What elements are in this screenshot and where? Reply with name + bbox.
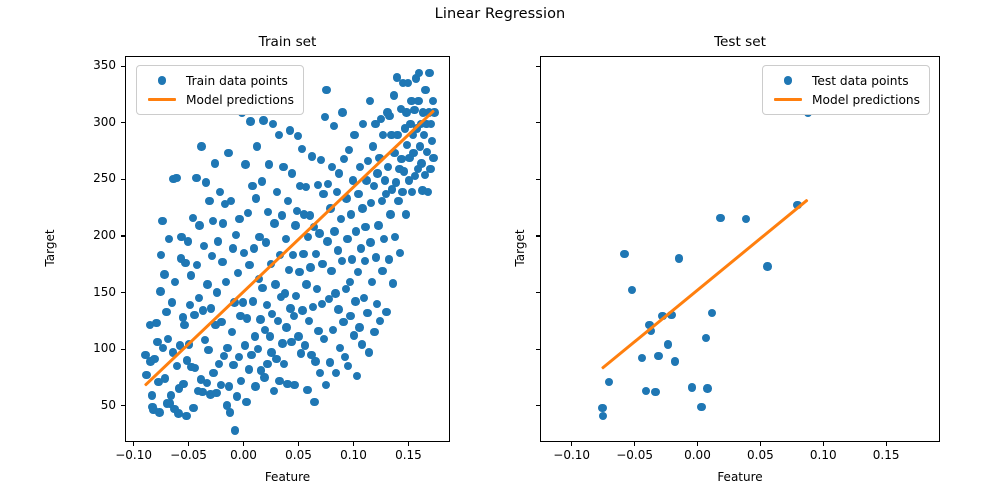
data-point — [354, 190, 362, 198]
x-tick-mark — [243, 442, 244, 446]
x-tick-label: 0.15 — [378, 448, 438, 462]
data-point — [217, 318, 225, 326]
legend-label: Test data points — [806, 74, 909, 88]
data-point — [314, 327, 322, 335]
data-point — [225, 382, 233, 390]
data-point — [237, 377, 245, 385]
data-point — [330, 227, 338, 235]
data-point — [310, 398, 318, 406]
data-point — [424, 188, 432, 196]
data-point — [290, 381, 298, 389]
data-point — [415, 69, 423, 77]
x-tick-mark — [133, 442, 134, 446]
data-point — [340, 155, 348, 163]
legend-label: Train data points — [180, 74, 288, 88]
data-point — [352, 227, 360, 235]
data-point — [213, 288, 221, 296]
data-point — [429, 154, 437, 162]
data-point — [664, 340, 672, 348]
y-tick-mark — [536, 349, 540, 350]
data-point — [396, 249, 404, 257]
legend-label: Model predictions — [180, 93, 294, 107]
data-point — [675, 254, 683, 262]
data-point — [295, 268, 303, 276]
data-point — [402, 210, 410, 218]
y-tick-mark — [121, 292, 125, 293]
x-tick-label: 0.05 — [268, 448, 328, 462]
data-point — [354, 268, 362, 276]
data-point — [302, 280, 310, 288]
y-tick-label: 150 — [72, 285, 116, 299]
data-point — [358, 204, 366, 212]
data-point — [171, 278, 179, 286]
data-point — [204, 346, 212, 354]
data-point — [369, 142, 377, 150]
data-point — [303, 386, 311, 394]
data-point — [334, 246, 342, 254]
data-point — [299, 250, 307, 258]
data-point — [179, 380, 187, 388]
data-point — [294, 132, 302, 140]
data-point — [598, 404, 606, 412]
data-point — [346, 312, 354, 320]
matplotlib-figure: Linear Regression Train set Target Featu… — [0, 0, 1000, 500]
data-point — [319, 190, 327, 198]
data-point — [192, 174, 200, 182]
data-point — [215, 360, 223, 368]
data-point — [374, 221, 382, 229]
x-tick-label: −0.05 — [159, 448, 219, 462]
data-point — [353, 372, 361, 380]
data-point — [351, 297, 359, 305]
data-point — [189, 404, 197, 412]
data-point — [409, 149, 417, 157]
data-point — [326, 358, 334, 366]
plot-area-train: Train data points Model predictions — [125, 56, 450, 442]
data-point — [290, 312, 298, 320]
data-point — [333, 188, 341, 196]
data-point — [393, 131, 401, 139]
data-point — [381, 176, 389, 184]
data-point — [427, 120, 435, 128]
data-point — [155, 408, 163, 416]
data-point — [343, 235, 351, 243]
data-point — [334, 305, 342, 313]
data-point — [218, 258, 226, 266]
data-point — [254, 345, 262, 353]
x-tick-label: 0.15 — [856, 448, 916, 462]
data-point — [241, 160, 249, 168]
data-point — [703, 384, 711, 392]
data-point — [265, 160, 273, 168]
data-point — [302, 183, 310, 191]
data-point — [322, 86, 330, 94]
data-point — [403, 141, 411, 149]
data-point — [184, 237, 192, 245]
data-point — [385, 255, 393, 263]
x-tick-mark — [886, 442, 887, 446]
x-axis-label-test: Feature — [540, 470, 940, 484]
data-point — [258, 177, 266, 185]
data-point — [421, 86, 429, 94]
data-point — [317, 156, 325, 164]
data-point — [361, 257, 369, 265]
data-point — [329, 326, 337, 334]
data-point — [298, 145, 306, 153]
data-point — [216, 188, 224, 196]
data-point — [226, 408, 234, 416]
data-point — [357, 244, 365, 252]
data-point — [315, 229, 323, 237]
data-point — [246, 117, 254, 125]
data-point — [160, 270, 168, 278]
y-tick-label: 300 — [72, 115, 116, 129]
data-point — [186, 301, 194, 309]
x-tick-label: −0.10 — [104, 448, 164, 462]
data-point — [363, 309, 371, 317]
data-point — [173, 362, 181, 370]
data-point — [253, 142, 261, 150]
data-point — [389, 279, 397, 287]
data-point — [324, 180, 332, 188]
data-point — [289, 251, 297, 259]
data-point — [322, 381, 330, 389]
data-point — [332, 369, 340, 377]
x-tick-label: −0.10 — [542, 448, 602, 462]
y-tick-mark — [121, 405, 125, 406]
data-point — [417, 159, 425, 167]
data-point — [312, 250, 320, 258]
data-point — [688, 383, 696, 391]
data-point — [165, 235, 173, 243]
x-tick-label: 0.00 — [667, 448, 727, 462]
legend-train[interactable]: Train data points Model predictions — [136, 65, 304, 115]
data-point — [278, 211, 286, 219]
data-point — [244, 209, 252, 217]
data-point — [331, 289, 339, 297]
data-point — [249, 297, 257, 305]
data-point — [152, 319, 160, 327]
data-point — [182, 412, 190, 420]
data-point — [190, 311, 198, 319]
data-point — [361, 223, 369, 231]
data-point — [671, 357, 679, 365]
data-point — [651, 388, 659, 396]
data-point — [366, 238, 374, 246]
data-point — [273, 188, 281, 196]
data-point — [164, 335, 172, 343]
data-point — [620, 250, 628, 258]
x-tick-mark — [760, 442, 761, 446]
data-point — [605, 378, 613, 386]
data-point — [235, 215, 243, 223]
data-point — [365, 348, 373, 356]
data-point — [313, 285, 321, 293]
data-point — [240, 249, 248, 257]
legend-item-train-points: Train data points — [144, 71, 294, 90]
data-point — [214, 237, 222, 245]
data-point — [274, 317, 282, 325]
data-point — [250, 244, 258, 252]
data-point — [297, 349, 305, 357]
data-point — [306, 263, 314, 271]
data-point — [386, 210, 394, 218]
figure-suptitle: Linear Regression — [0, 6, 1000, 22]
x-axis-label-train: Feature — [125, 470, 450, 484]
data-point — [241, 341, 249, 349]
data-point — [404, 79, 412, 87]
data-point — [212, 389, 220, 397]
x-tick-label: 0.10 — [793, 448, 853, 462]
x-tick-mark — [571, 442, 572, 446]
x-tick-label: 0.00 — [214, 448, 274, 462]
data-point — [195, 221, 203, 229]
y-tick-mark — [536, 179, 540, 180]
data-point — [235, 353, 243, 361]
plot-area-test: Test data points Model predictions — [540, 56, 940, 442]
data-point — [263, 360, 271, 368]
data-point — [197, 142, 205, 150]
data-point — [209, 369, 217, 377]
data-point — [229, 361, 237, 369]
data-point — [239, 298, 247, 306]
data-point — [377, 115, 385, 123]
data-point — [697, 403, 705, 411]
y-axis-label-train: Target — [43, 188, 57, 308]
data-point — [708, 309, 716, 317]
data-point — [292, 292, 300, 300]
data-point — [224, 149, 232, 157]
data-point — [294, 332, 302, 340]
data-point — [360, 294, 368, 302]
data-point — [654, 352, 662, 360]
x-tick-mark — [697, 442, 698, 446]
data-point — [167, 391, 175, 399]
x-tick-mark — [353, 442, 354, 446]
y-tick-label: 100 — [72, 341, 116, 355]
data-point — [264, 208, 272, 216]
data-point — [376, 317, 384, 325]
data-point — [305, 317, 313, 325]
data-point — [281, 289, 289, 297]
data-point — [338, 108, 346, 116]
data-point — [286, 126, 294, 134]
y-tick-mark — [536, 66, 540, 67]
data-point — [231, 426, 239, 434]
y-tick-mark — [121, 66, 125, 67]
line-segment-icon — [770, 98, 806, 101]
data-point — [195, 294, 203, 302]
data-point — [350, 331, 358, 339]
data-point — [207, 304, 215, 312]
data-point — [368, 278, 376, 286]
data-point — [391, 233, 399, 241]
data-point — [223, 344, 231, 352]
data-point — [148, 391, 156, 399]
model-prediction-line — [601, 198, 809, 369]
data-point — [288, 169, 296, 177]
dot-marker-icon — [770, 76, 806, 84]
data-point — [742, 215, 750, 223]
data-point — [150, 355, 158, 363]
data-point — [338, 257, 346, 265]
data-point — [208, 252, 216, 260]
y-tick-mark — [536, 405, 540, 406]
data-point — [429, 97, 437, 105]
y-tick-mark — [121, 179, 125, 180]
data-point — [278, 339, 286, 347]
data-point — [156, 287, 164, 295]
data-point — [270, 387, 278, 395]
y-tick-mark — [536, 235, 540, 236]
data-point — [420, 131, 428, 139]
data-point — [284, 197, 292, 205]
data-point — [181, 259, 189, 267]
data-point — [232, 231, 240, 239]
data-point — [243, 314, 251, 322]
data-point — [263, 301, 271, 309]
data-point — [599, 412, 607, 420]
data-point — [316, 369, 324, 377]
data-point — [702, 334, 710, 342]
data-point — [716, 214, 724, 222]
data-point — [323, 237, 331, 245]
y-tick-mark — [536, 122, 540, 123]
data-point — [370, 182, 378, 190]
data-point — [392, 178, 400, 186]
data-point — [220, 352, 228, 360]
data-point — [366, 97, 374, 105]
data-point — [394, 197, 402, 205]
x-tick-label: 0.05 — [730, 448, 790, 462]
data-point — [200, 242, 208, 250]
data-point — [345, 146, 353, 154]
data-point — [228, 328, 236, 336]
data-point — [202, 178, 210, 186]
data-point — [161, 374, 169, 382]
data-point — [227, 197, 235, 205]
data-point — [275, 131, 283, 139]
data-point — [159, 344, 167, 352]
data-point — [252, 194, 260, 202]
data-point — [256, 315, 264, 323]
data-point — [327, 267, 335, 275]
data-point — [217, 381, 225, 389]
x-tick-label: 0.10 — [323, 448, 383, 462]
data-point — [382, 308, 390, 316]
data-point — [233, 392, 241, 400]
data-point — [229, 244, 237, 252]
data-point — [428, 137, 436, 145]
legend-test[interactable]: Test data points Model predictions — [762, 65, 930, 115]
data-point — [414, 97, 422, 105]
data-point — [282, 323, 290, 331]
data-point — [380, 235, 388, 243]
y-tick-mark — [536, 292, 540, 293]
data-point — [346, 278, 354, 286]
data-point — [298, 306, 306, 314]
data-point — [330, 122, 338, 130]
data-point — [390, 91, 398, 99]
data-point — [270, 219, 278, 227]
data-point — [398, 188, 406, 196]
data-point — [410, 106, 418, 114]
data-point — [258, 284, 266, 292]
data-point — [279, 163, 287, 171]
data-point — [311, 357, 319, 365]
data-point — [248, 182, 256, 190]
data-point — [408, 188, 416, 196]
legend-item-test-line: Model predictions — [770, 90, 920, 109]
y-tick-mark — [121, 122, 125, 123]
data-point — [180, 321, 188, 329]
data-point — [347, 210, 355, 218]
data-point — [628, 286, 636, 294]
data-point — [350, 131, 358, 139]
data-point — [348, 255, 356, 263]
data-point — [260, 373, 268, 381]
data-point — [259, 116, 267, 124]
data-point — [168, 298, 176, 306]
y-tick-label: 50 — [72, 398, 116, 412]
data-point — [314, 181, 322, 189]
data-point — [211, 159, 219, 167]
data-point — [358, 340, 366, 348]
data-point — [638, 354, 646, 362]
data-point — [336, 344, 344, 352]
data-point — [280, 360, 288, 368]
dot-marker-icon — [144, 76, 180, 84]
data-point — [189, 214, 197, 222]
data-point — [372, 253, 380, 261]
data-point — [301, 341, 309, 349]
data-point — [306, 211, 314, 219]
data-point — [320, 335, 328, 343]
data-point — [373, 169, 381, 177]
data-point — [251, 382, 259, 390]
data-point — [282, 235, 290, 243]
y-axis-label-test: Target — [513, 188, 527, 308]
y-tick-mark — [121, 235, 125, 236]
data-point — [242, 398, 250, 406]
y-tick-mark — [121, 349, 125, 350]
data-point — [262, 238, 270, 246]
subplot-title-test: Test set — [540, 34, 940, 50]
legend-item-train-line: Model predictions — [144, 90, 294, 109]
data-point — [219, 219, 227, 227]
data-point — [373, 300, 381, 308]
data-point — [291, 221, 299, 229]
x-tick-mark — [188, 442, 189, 446]
x-tick-label: −0.05 — [605, 448, 665, 462]
data-point — [642, 387, 650, 395]
data-point — [384, 163, 392, 171]
data-point — [222, 278, 230, 286]
data-point — [285, 266, 293, 274]
x-tick-mark — [408, 442, 409, 446]
data-point — [355, 323, 363, 331]
legend-label: Model predictions — [806, 93, 920, 107]
line-segment-icon — [144, 98, 180, 101]
data-point — [337, 215, 345, 223]
data-point — [318, 260, 326, 268]
data-point — [187, 271, 195, 279]
data-point — [172, 174, 180, 182]
x-tick-mark — [634, 442, 635, 446]
data-point — [335, 169, 343, 177]
subplot-title-train: Train set — [125, 34, 450, 50]
data-point — [309, 303, 317, 311]
